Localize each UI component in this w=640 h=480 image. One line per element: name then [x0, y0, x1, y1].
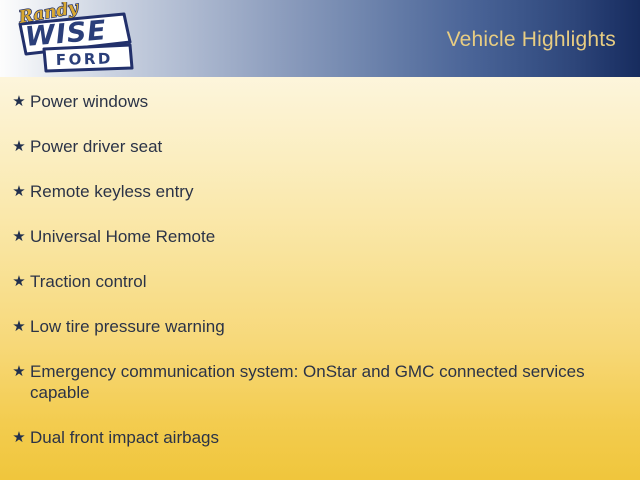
list-item: ★ Traction control: [8, 271, 628, 292]
list-item: ★ Dual front impact airbags: [8, 427, 628, 448]
list-item: ★ Power driver seat: [8, 136, 628, 157]
star-bullet-icon: ★: [8, 136, 30, 157]
star-bullet-icon: ★: [8, 316, 30, 337]
star-bullet-icon: ★: [8, 226, 30, 247]
list-item-label: Traction control: [30, 271, 628, 292]
list-item: ★ Low tire pressure warning: [8, 316, 628, 337]
list-item-label: Remote keyless entry: [30, 181, 628, 202]
star-bullet-icon: ★: [8, 181, 30, 202]
vehicle-highlights-list: ★ Power windows ★ Power driver seat ★ Re…: [0, 77, 640, 448]
list-item: ★ Universal Home Remote: [8, 226, 628, 247]
vehicle-highlights-slide: WISE FORD Randy Vehicle Highlights ★ Pow…: [0, 0, 640, 480]
list-item: ★ Remote keyless entry: [8, 181, 628, 202]
list-item-label: Low tire pressure warning: [30, 316, 628, 337]
list-item-label: Emergency communication system: OnStar a…: [30, 361, 628, 403]
list-item-label: Dual front impact airbags: [30, 427, 628, 448]
list-item-label: Power driver seat: [30, 136, 628, 157]
list-item: ★ Power windows: [8, 91, 628, 112]
page-title: Vehicle Highlights: [447, 28, 616, 52]
star-bullet-icon: ★: [8, 91, 30, 112]
randy-wise-ford-logo: WISE FORD Randy: [6, 2, 142, 74]
star-bullet-icon: ★: [8, 271, 30, 292]
star-bullet-icon: ★: [8, 361, 30, 382]
slide-header: WISE FORD Randy Vehicle Highlights: [0, 0, 640, 77]
svg-text:FORD: FORD: [56, 50, 113, 69]
list-item-label: Universal Home Remote: [30, 226, 628, 247]
star-bullet-icon: ★: [8, 427, 30, 448]
list-item-label: Power windows: [30, 91, 628, 112]
list-item: ★ Emergency communication system: OnStar…: [8, 361, 628, 403]
